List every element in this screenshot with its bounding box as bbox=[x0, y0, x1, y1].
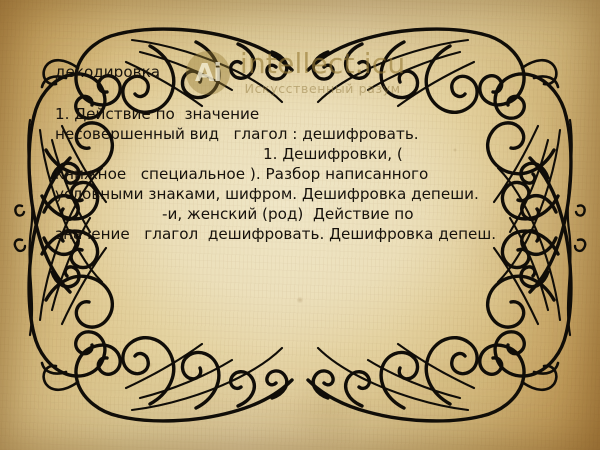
ornament-edge-left bbox=[0, 120, 44, 335]
definition-line-7: значение глагол дешифровать. Дешифровка … bbox=[55, 224, 560, 244]
headword: декодировка bbox=[55, 62, 560, 82]
parchment-page: Ai intellect.icu Искусственный разум дек… bbox=[0, 0, 600, 450]
definition-line-6: -и, женский (род) Действие по bbox=[55, 204, 560, 224]
definition-line-4: книжное специальное ). Разбор написанног… bbox=[55, 164, 560, 184]
ornament-edge-right bbox=[556, 120, 600, 335]
definition-line-2: несовершенный вид глагол : дешифровать. bbox=[55, 124, 560, 144]
definition-line-1: 1. Действие по значение bbox=[55, 104, 560, 124]
definition-line-5: условными знаками, шифром. Дешифровка де… bbox=[55, 184, 560, 204]
ornament-corner-bottom-left bbox=[0, 275, 300, 450]
definition-body: 1. Действие по значение несовершенный ви… bbox=[55, 104, 560, 244]
definition-line-3: 1. Дешифровки, ( bbox=[55, 144, 560, 164]
ornament-corner-bottom-right bbox=[300, 275, 600, 450]
dictionary-article: декодировка 1. Действие по значение несо… bbox=[55, 62, 560, 244]
